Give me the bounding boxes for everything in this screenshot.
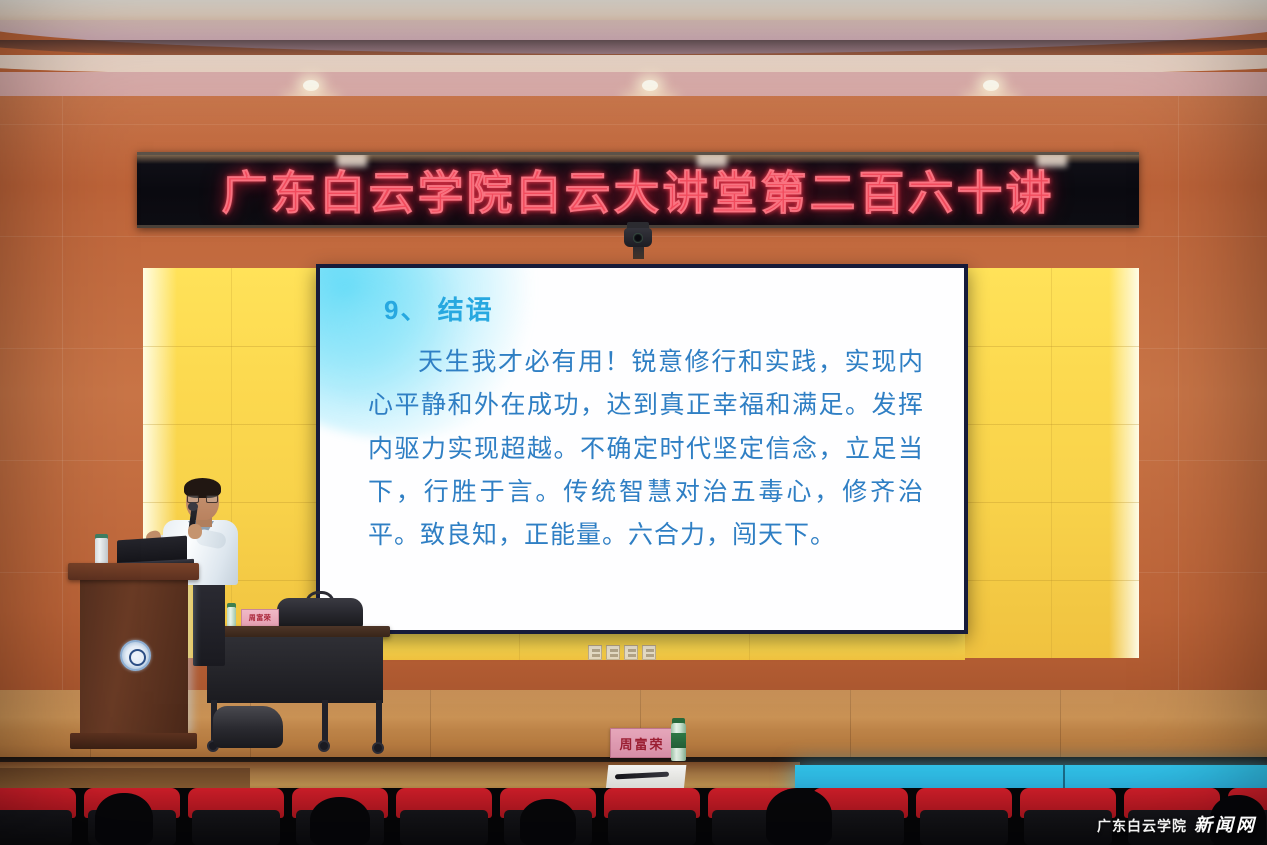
watermark-site: 新闻网 (1194, 811, 1257, 837)
watermark-institution: 广东白云学院 (1097, 816, 1187, 836)
wall-outlet-icon (588, 645, 602, 660)
stage-front-nameplate-text: 周富荣 (619, 734, 664, 753)
audience-head-silhouette (766, 788, 832, 845)
backlit-wall-panel-right (965, 268, 1139, 658)
front-bottle-label (671, 733, 686, 748)
university-emblem-icon (120, 640, 151, 671)
thermos-flask (95, 538, 108, 566)
lecture-hall-photo: 广东白云学院白云大讲堂第二百六十讲 9、 结语 (0, 0, 1267, 845)
wall-outlet-icon (624, 645, 638, 660)
ceiling-downlight-icon (642, 80, 658, 91)
stage-table-top (200, 626, 390, 637)
table-caster (372, 742, 384, 754)
audience-head-silhouette (95, 793, 153, 845)
slide-heading: 9、 结语 (384, 290, 924, 327)
audience-seat (916, 788, 1012, 845)
watermark: 广东白云学院 新闻网 (1097, 811, 1257, 837)
slide-body-text: 天生我才必有用！锐意修行和实践，实现内心平静和外在成功，达到真正幸福和满足。发挥… (368, 341, 924, 557)
camera-lens-icon (633, 233, 643, 243)
table-leg (322, 700, 328, 742)
audience-seat (604, 788, 700, 845)
stage-front-nameplate: 周富荣 (610, 728, 674, 758)
desk-nameplate: 周富荣 (241, 609, 279, 627)
screen-surface: 9、 结语 天生我才必有用！锐意修行和实践，实现内心平静和外在成功，达到真正幸福… (320, 268, 964, 630)
microphone-head (188, 502, 198, 511)
lectern (76, 563, 191, 751)
audience-seat (188, 788, 284, 845)
audience-seat (0, 788, 76, 845)
audience-head-silhouette (520, 799, 576, 845)
table-caster (318, 740, 330, 752)
wall-outlet-icon (642, 645, 656, 660)
desk-nameplate-text: 周富荣 (249, 613, 272, 623)
table-leg (376, 700, 382, 744)
floor-bag (213, 706, 283, 748)
audience-seat-row (0, 788, 1267, 845)
lectern-top (68, 563, 199, 580)
speaker-right-hand (188, 524, 202, 539)
audience-seat (396, 788, 492, 845)
audience-head-silhouette (310, 797, 370, 845)
led-banner: 广东白云学院白云大讲堂第二百六十讲 (137, 152, 1139, 228)
lectern-base (70, 733, 197, 749)
camera-mount-arm (633, 245, 644, 259)
ceiling-downlight-icon (303, 80, 319, 91)
ceiling-downlight-icon (983, 80, 999, 91)
stage-table-skirt (207, 637, 383, 703)
projection-screen: 9、 结语 天生我才必有用！锐意修行和实践，实现内心平静和外在成功，达到真正幸福… (316, 264, 968, 634)
wall-outlet-icon (606, 645, 620, 660)
